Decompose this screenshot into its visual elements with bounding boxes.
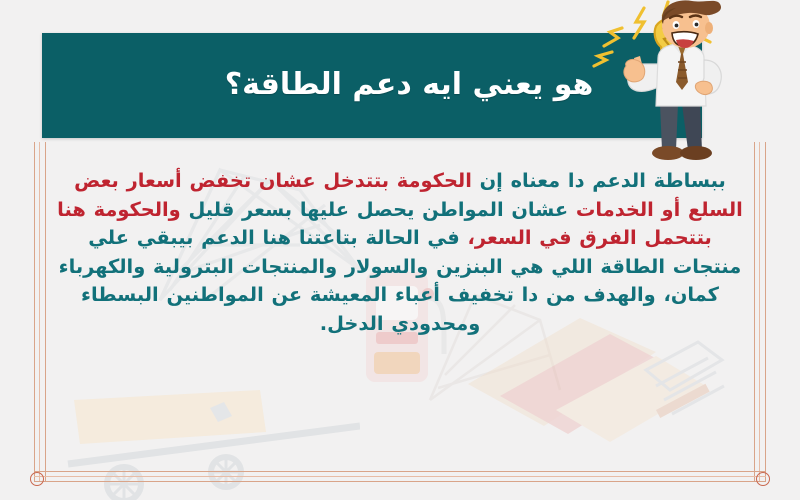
- body-segment-0: ببساطة الدعم دا معناه إن: [472, 169, 726, 192]
- handcart-icon: [60, 386, 360, 500]
- frame-corner-bottom-right: [756, 472, 770, 486]
- infographic-poster: هو يعني ايه دعم الطاقة؟: [0, 0, 800, 500]
- body-text-block: ببساطة الدعم دا معناه إن الحكومة بتتدخل …: [56, 148, 744, 358]
- body-segment-2: عشان المواطن يحصل عليها بسعر قليل: [181, 198, 576, 221]
- frame-bottom-border: [34, 471, 766, 482]
- page-title: هو يعني ايه دعم الطاقة؟: [125, 66, 620, 104]
- pointing-hand: [624, 56, 645, 82]
- frame-corner-bottom-left: [30, 472, 44, 486]
- frame-left-border: [34, 142, 46, 482]
- body-paragraph: ببساطة الدعم دا معناه إن الحكومة بتتدخل …: [56, 167, 744, 338]
- frame-right-border: [754, 142, 766, 482]
- businessman-pointing-up-illustration: [582, 0, 782, 168]
- character-head: [662, 0, 721, 48]
